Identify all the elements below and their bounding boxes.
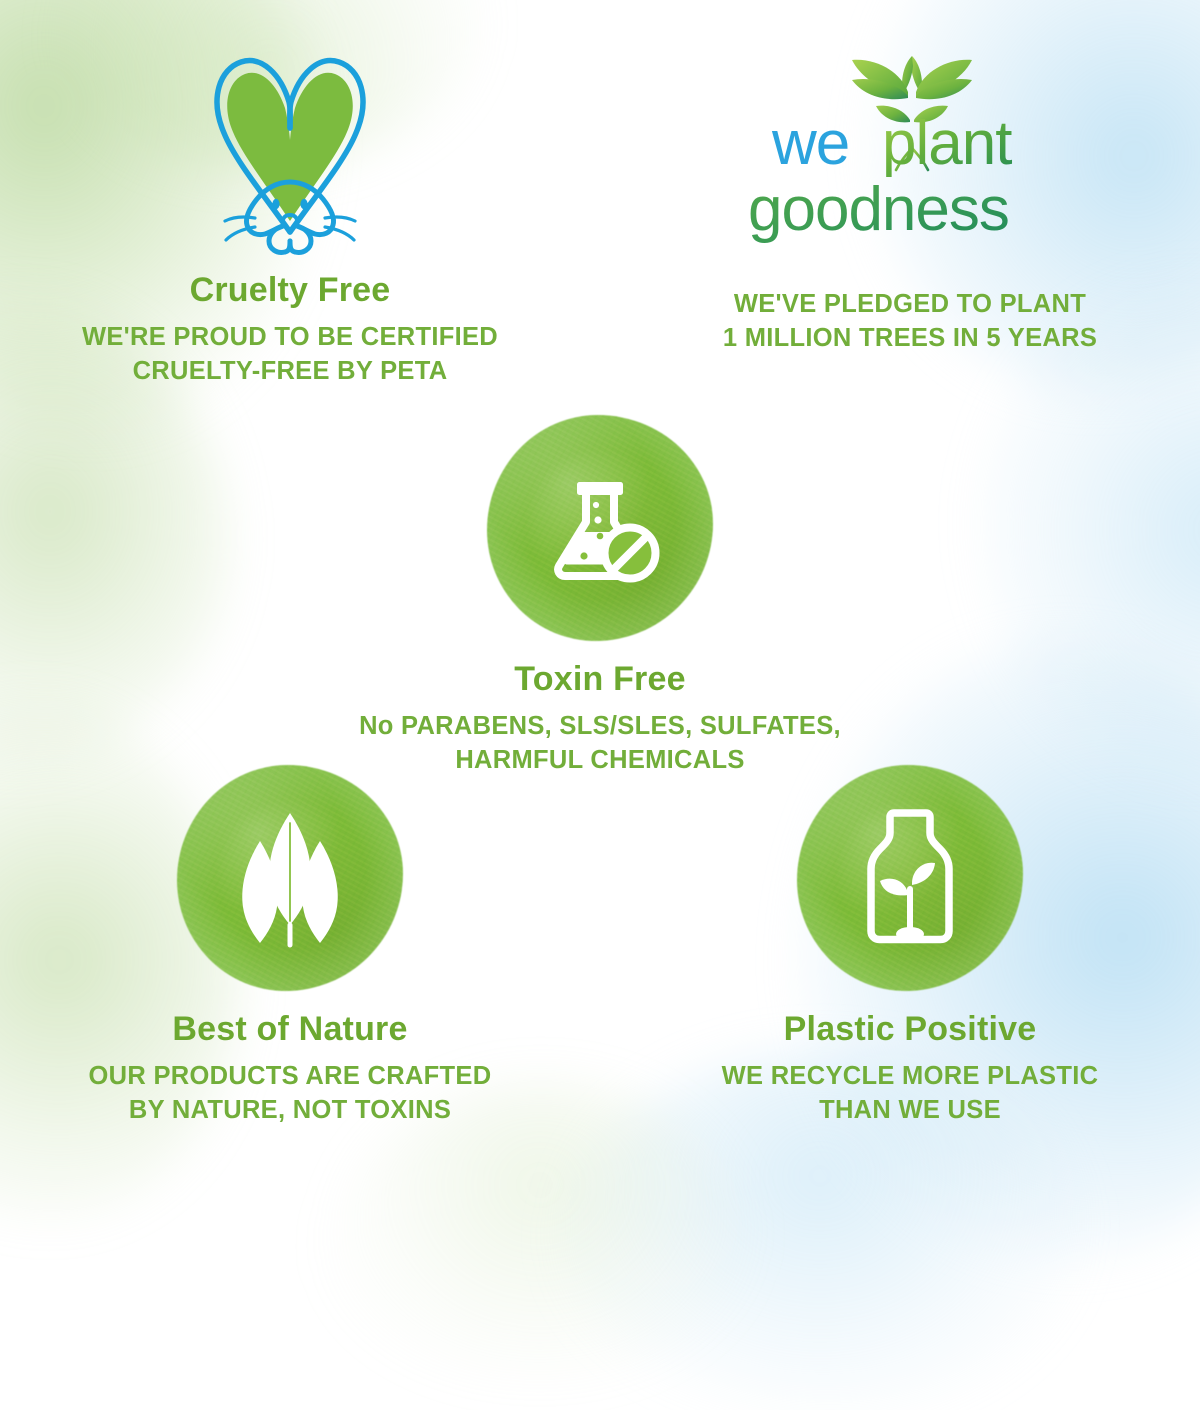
logo-word-plant: plant bbox=[882, 109, 1012, 178]
claim-title-plastic-positive: Plastic Positive bbox=[650, 1011, 1170, 1048]
desc-line: No PARABENS, SLS/SLES, SULFATES, bbox=[359, 712, 841, 740]
claim-description-plant-goodness: WE'VE PLEDGED TO PLANT 1 MILLION TREES I… bbox=[650, 288, 1170, 356]
bottle-sapling-recycle-icon bbox=[797, 765, 1023, 991]
icon-wrap-best-of-nature bbox=[30, 765, 550, 991]
desc-line: BY NATURE, NOT TOXINS bbox=[129, 1096, 451, 1124]
claim-description-cruelty-free: WE'RE PROUD TO BE CERTIFIED CRUELTY-FREE… bbox=[30, 321, 550, 389]
claim-title-cruelty-free: Cruelty Free bbox=[30, 272, 550, 309]
claim-plastic-positive: Plastic Positive WE RECYCLE MORE PLASTIC… bbox=[650, 765, 1170, 1128]
icon-wrap-plastic-positive bbox=[650, 765, 1170, 991]
infographic-body: Cruelty Free WE'RE PROUD TO BE CERTIFIED… bbox=[0, 0, 1200, 1200]
claim-title-best-of-nature: Best of Nature bbox=[30, 1011, 550, 1048]
peta-cruelty-free-bunny-heart-logo bbox=[195, 36, 385, 266]
logo-word-we: we bbox=[771, 109, 849, 178]
claim-plant-goodness: we plant goodness WE'VE PLEDGED TO PLANT… bbox=[650, 36, 1170, 356]
claim-description-plastic-positive: WE RECYCLE MORE PLASTIC THAN WE USE bbox=[650, 1060, 1170, 1128]
desc-line: WE'VE PLEDGED TO PLANT bbox=[734, 290, 1086, 318]
desc-line: WE'RE PROUD TO BE CERTIFIED bbox=[82, 323, 498, 351]
desc-line: THAN WE USE bbox=[819, 1096, 1001, 1124]
claim-description-best-of-nature: OUR PRODUCTS ARE CRAFTED BY NATURE, NOT … bbox=[30, 1060, 550, 1128]
desc-line: OUR PRODUCTS ARE CRAFTED bbox=[89, 1062, 492, 1090]
logo-word-goodness: goodness bbox=[748, 175, 1009, 244]
flask-no-toxins-icon bbox=[487, 415, 713, 641]
desc-line: WE RECYCLE MORE PLASTIC bbox=[722, 1062, 1099, 1090]
claim-cruelty-free: Cruelty Free WE'RE PROUD TO BE CERTIFIED… bbox=[30, 36, 550, 389]
claim-title-toxin-free: Toxin Free bbox=[340, 661, 860, 698]
icon-wrap-toxin-free bbox=[340, 415, 860, 641]
desc-line: CRUELTY-FREE BY PETA bbox=[133, 357, 448, 385]
desc-line: 1 MILLION TREES IN 5 YEARS bbox=[723, 324, 1097, 352]
claim-best-of-nature: Best of Nature OUR PRODUCTS ARE CRAFTED … bbox=[30, 765, 550, 1128]
three-leaves-icon bbox=[177, 765, 403, 991]
claim-toxin-free: Toxin Free No PARABENS, SLS/SLES, SULFAT… bbox=[340, 415, 860, 778]
we-plant-goodness-sapling-logo: we plant goodness bbox=[740, 36, 1080, 266]
